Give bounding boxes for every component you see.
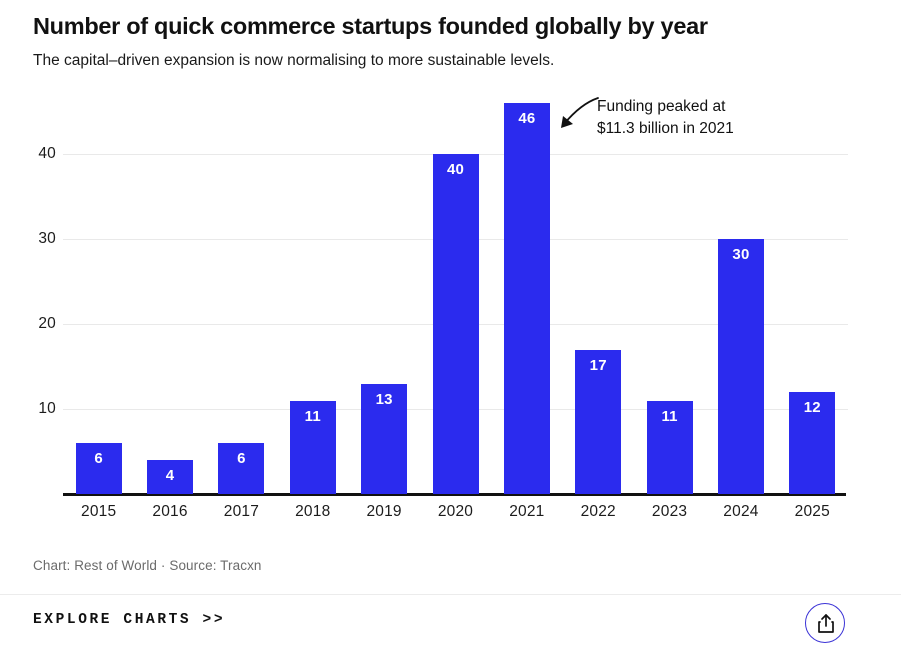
y-axis-tick-label: 30 [14, 230, 56, 248]
bar[interactable]: 6 [218, 443, 264, 494]
arrow-down-left-icon [552, 94, 600, 136]
bar[interactable]: 12 [789, 392, 835, 494]
footer-divider [0, 594, 901, 595]
y-axis-tick-label: 10 [14, 400, 56, 418]
bar[interactable]: 46 [504, 103, 550, 494]
page-title: Number of quick commerce startups founde… [33, 11, 873, 41]
bar-value-label: 6 [76, 450, 122, 467]
bar[interactable]: 13 [361, 384, 407, 495]
bar-value-label: 30 [718, 246, 764, 263]
bar-series: 6461113404617113012 [63, 86, 848, 494]
x-axis-tick-label: 2022 [563, 503, 633, 521]
bar[interactable]: 11 [290, 401, 336, 495]
x-axis-tick-label: 2023 [635, 503, 705, 521]
bar[interactable]: 17 [575, 350, 621, 495]
x-axis-tick-label: 2015 [64, 503, 134, 521]
y-axis-tick-label: 20 [14, 315, 56, 333]
source-note: Chart: Rest of World · Source: Tracxn [33, 558, 262, 573]
bar-value-label: 11 [647, 408, 693, 425]
share-upload-icon [816, 613, 836, 635]
bar-value-label: 46 [504, 110, 550, 127]
x-axis-tick-label: 2021 [492, 503, 562, 521]
bar-value-label: 17 [575, 357, 621, 374]
bar-value-label: 4 [147, 467, 193, 484]
bar-value-label: 11 [290, 408, 336, 425]
x-axis-tick-label: 2019 [349, 503, 419, 521]
x-axis-tick-label: 2020 [421, 503, 491, 521]
annotation-line-1: Funding peaked at [597, 96, 734, 118]
x-axis-tick-label: 2017 [206, 503, 276, 521]
annotation-line-2: $11.3 billion in 2021 [597, 118, 734, 140]
x-axis-tick-label: 2018 [278, 503, 348, 521]
x-axis-tick-label: 2024 [706, 503, 776, 521]
bar[interactable]: 30 [718, 239, 764, 494]
bar-value-label: 12 [789, 399, 835, 416]
chart-subtitle: The capital–driven expansion is now norm… [33, 50, 873, 72]
bar-value-label: 13 [361, 391, 407, 408]
annotation-text: Funding peaked at $11.3 billion in 2021 [597, 96, 734, 140]
bar[interactable]: 4 [147, 460, 193, 494]
explore-charts-link[interactable]: EXPLORE CHARTS >> [33, 612, 225, 628]
share-button[interactable] [805, 603, 845, 643]
chart-page: Number of quick commerce startups founde… [0, 0, 901, 663]
bar-value-label: 40 [433, 161, 479, 178]
x-axis-tick-label: 2016 [135, 503, 205, 521]
y-axis-tick-label: 40 [14, 145, 56, 163]
bar-value-label: 6 [218, 450, 264, 467]
x-axis-tick-label: 2025 [777, 503, 847, 521]
bar[interactable]: 40 [433, 154, 479, 494]
bar[interactable]: 6 [76, 443, 122, 494]
bar[interactable]: 11 [647, 401, 693, 495]
